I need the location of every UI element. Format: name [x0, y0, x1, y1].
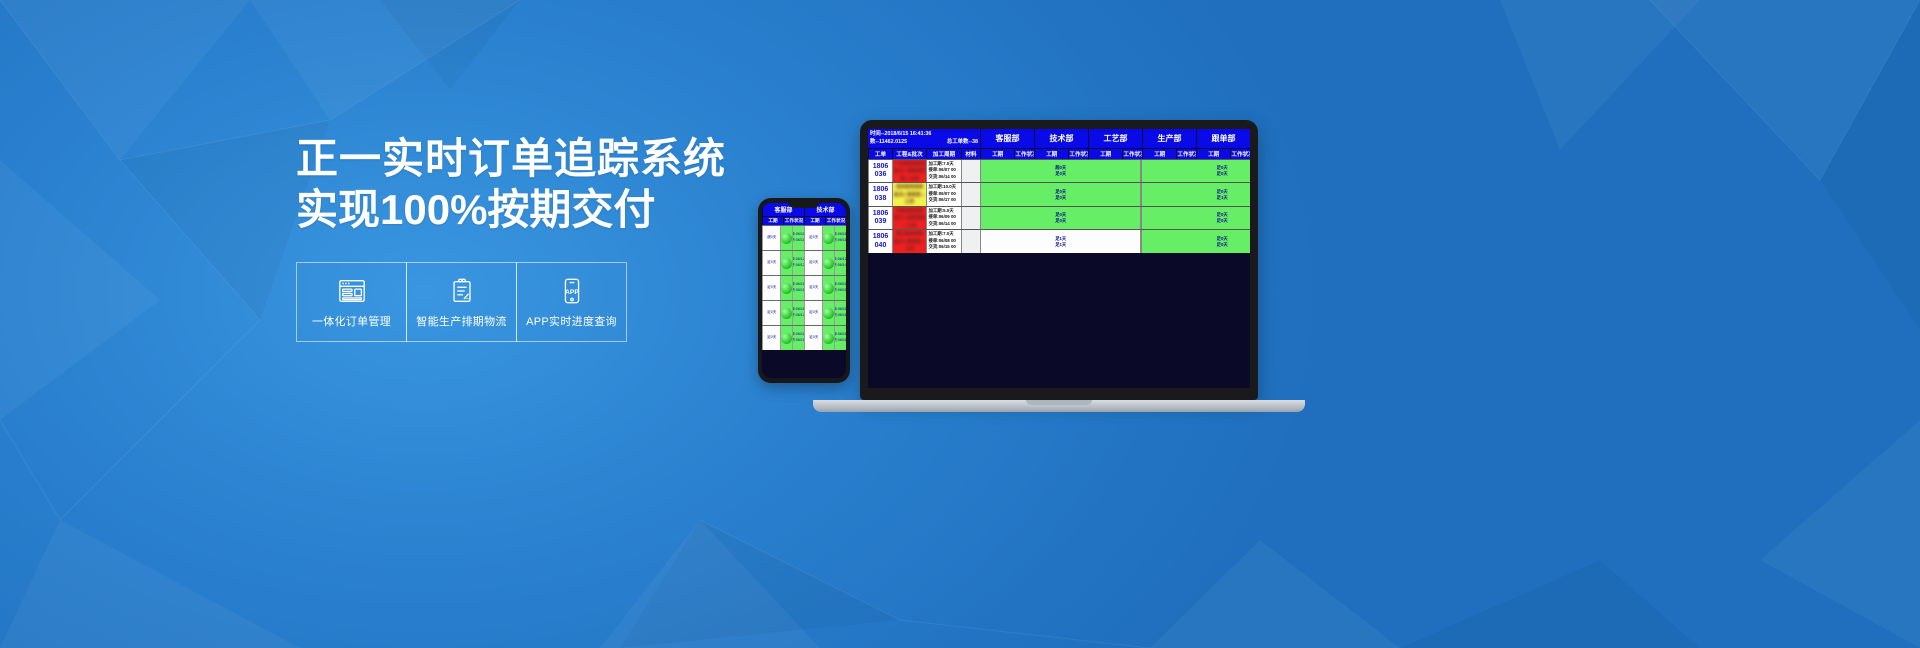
phone-table-row[interactable]: 足0天接单:06/11 17交货:06/11 17足0天接单:06/11 17交… — [762, 325, 846, 350]
phone-col-duration-1: 工期 — [762, 217, 783, 225]
status-indicator-green — [781, 258, 792, 269]
phone-detail-right: 接单:06/12 20交货:06/14 04 — [834, 251, 846, 275]
status-indicator-green — [823, 333, 834, 344]
dashboard-window-icon — [337, 276, 367, 306]
col-生产部-工期: 工期 — [1142, 149, 1176, 159]
phone-detail-right: 接单:06/11 17交货:06/11 17 — [834, 326, 846, 350]
dept-process[interactable]: 工艺部 — [1088, 129, 1142, 148]
processing-cycle: 加工期:10.0天接单:06/07 00交货:06/17 00 — [926, 183, 961, 206]
material-cell — [961, 160, 980, 183]
duration-技术部: 足0天足0天 — [1141, 160, 1250, 183]
col-客服部-工作状况: 工作状况 — [1014, 149, 1034, 159]
phone-column-header: 工期 工作状况 工期 工作状况 — [762, 216, 846, 225]
status-indicator-green — [823, 283, 834, 294]
feature-item-production-scheduling[interactable]: 智能生产排期物流 — [406, 262, 517, 342]
order-number: 1806036 — [868, 160, 892, 183]
phone-table-row[interactable]: 足0天接单:06/11 17交货:06/11 17足0天接单:06/11 17交… — [762, 275, 846, 300]
status-indicator-green — [781, 283, 792, 294]
mobile-app-icon: APP — [557, 276, 587, 306]
duration-技术部: 足0天足0天 — [1141, 207, 1250, 230]
page-title-line2: 实现100%按期交付 — [296, 184, 716, 235]
phone-status-left[interactable] — [780, 276, 792, 300]
department-header-row: 客服部 技术部 工艺部 生产部 跟单部 — [980, 129, 1250, 148]
dept-merchandising[interactable]: 跟单部 — [1196, 129, 1250, 148]
phone-status-right[interactable] — [822, 326, 834, 350]
dashboard-count: 数--11462.0125 — [870, 138, 907, 146]
phone-body: 客服部 技术部 工期 工作状况 工期 工作状况 超0天接单:06/11 17交货… — [758, 198, 850, 383]
table-row[interactable]: 1806039东莞某某某某 批次1 某某某某—工序加工期:5.0天接单:06/0… — [868, 206, 1250, 230]
status-indicator-green — [823, 308, 834, 319]
svg-text:APP: APP — [565, 288, 579, 295]
col-1: 工程&批次 — [892, 149, 926, 159]
phone-status-left[interactable] — [780, 301, 792, 325]
processing-cycle: 加工期:7.0天接单:06/08 00交货:06/15 00 — [926, 230, 961, 253]
feature-item-app-progress-query[interactable]: APP APP实时进度查询 — [516, 262, 627, 342]
phone-status-left[interactable] — [780, 251, 792, 275]
dashboard-total-orders: 总工单数--38 — [947, 138, 978, 146]
order-name: 广州某某某某某 批次1 某某某某某—工序 — [892, 160, 926, 183]
phone-status-right[interactable] — [822, 226, 834, 250]
phone-duration-right: 足0天 — [804, 251, 822, 275]
laptop-base-notch — [1026, 400, 1092, 405]
status-indicator-green — [781, 233, 792, 244]
table-row[interactable]: 1806038深圳某某某某 批次2 某某某—工序加工期:10.0天接单:06/0… — [868, 182, 1250, 206]
phone-detail-left: 接单:06/11 17交货:06/11 17 — [792, 326, 804, 350]
status-indicator-green — [823, 258, 834, 269]
phone-col-status-2: 工作状况 — [825, 217, 846, 225]
phone-detail-left: 接单:06/11 17交货:06/11 17 — [792, 276, 804, 300]
feature-label: 一体化订单管理 — [312, 313, 391, 329]
phone-duration-left: 超0天 — [762, 226, 780, 250]
duration-客服部: 足0天足0天 — [980, 183, 1140, 206]
status-indicator-green — [781, 308, 792, 319]
phone-mockup: 客服部 技术部 工期 工作状况 工期 工作状况 超0天接单:06/11 17交货… — [758, 198, 850, 383]
processing-cycle: 加工期:7.0天接单:06/07 00交货:06/14 00 — [926, 160, 961, 183]
dept-production[interactable]: 生产部 — [1142, 129, 1196, 148]
order-name: 东莞某某某某 批次1 某某某某—工序 — [892, 207, 926, 230]
dashboard-meta: 时间--2018/6/15 16:41:36 数--11462.0125 总工单… — [868, 129, 980, 148]
duration-客服部: 足0天足0天 — [980, 207, 1140, 230]
laptop-base — [813, 400, 1305, 412]
col-工艺部-工作状况: 工作状况 — [1122, 149, 1142, 159]
duration-技术部: 足0天足0天 — [1141, 230, 1250, 253]
phone-detail-right: 接单:06/11 17交货:06/11 17 — [834, 226, 846, 250]
column-header-row: 工单工程&批次加工周期材料工期工作状况工期工作状况工期工作状况工期工作状况工期工… — [868, 148, 1250, 159]
phone-detail-left: 接单:06/11 17交货:06/11 17 — [792, 226, 804, 250]
phone-table-row[interactable]: 超0天接单:06/11 17交货:06/11 17足0天接单:06/11 17交… — [762, 225, 846, 250]
order-name: 佛山某某某某 批次3 某某某—工序 — [892, 230, 926, 253]
laptop-screen[interactable]: 时间--2018/6/15 16:41:36 数--11462.0125 总工单… — [868, 129, 1250, 388]
col-0: 工单 — [868, 149, 892, 159]
clipboard-schedule-icon — [447, 276, 477, 306]
feature-item-order-management[interactable]: 一体化订单管理 — [296, 262, 407, 342]
order-number: 1806040 — [868, 230, 892, 253]
phone-detail-right: 接单:06/11 17交货:06/11 17 — [834, 276, 846, 300]
col-生产部-工作状况: 工作状况 — [1176, 149, 1196, 159]
material-cell — [961, 230, 980, 253]
phone-status-right[interactable] — [822, 276, 834, 300]
table-row[interactable]: 1806036广州某某某某某 批次1 某某某某某—工序加工期:7.0天接单:06… — [868, 159, 1250, 183]
duration-技术部: 足0天足1天 — [1141, 183, 1250, 206]
phone-row-list: 超0天接单:06/11 17交货:06/11 17足0天接单:06/11 17交… — [762, 225, 846, 350]
device-mockups: 客服部 技术部 工期 工作状况 工期 工作状况 超0天接单:06/11 17交货… — [740, 110, 1380, 440]
phone-col-status-1: 工作状况 — [783, 217, 804, 225]
table-row[interactable]: 1806040佛山某某某某 批次3 某某某—工序加工期:7.0天接单:06/08… — [868, 229, 1250, 253]
phone-duration-left: 足0天 — [762, 251, 780, 275]
phone-screen[interactable]: 客服部 技术部 工期 工作状况 工期 工作状况 超0天接单:06/11 17交货… — [762, 203, 846, 378]
phone-detail-left: 接单:06/12 20交货:06/12 20 — [792, 251, 804, 275]
hero-copy: 正一实时订单追踪系统 实现100%按期交付 — [296, 133, 716, 235]
phone-duration-right: 足0天 — [804, 326, 822, 350]
phone-status-left[interactable] — [780, 226, 792, 250]
laptop-mockup: 时间--2018/6/15 16:41:36 数--11462.0125 总工单… — [860, 120, 1305, 412]
phone-detail-right: 接单:06/11 17交货:06/11 17 — [834, 301, 846, 325]
order-name: 深圳某某某某 批次2 某某某—工序 — [892, 183, 926, 206]
material-cell — [961, 183, 980, 206]
duration-客服部: 超0天足0天 — [980, 160, 1140, 183]
col-技术部-工期: 工期 — [1034, 149, 1068, 159]
phone-duration-left: 足0天 — [762, 276, 780, 300]
duration-客服部: 足1天足1天 — [980, 230, 1140, 253]
order-row-list: 1806036广州某某某某某 批次1 某某某某某—工序加工期:7.0天接单:06… — [868, 159, 1250, 253]
dashboard-header: 时间--2018/6/15 16:41:36 数--11462.0125 总工单… — [868, 129, 1250, 148]
col-跟单部-工作状况: 工作状况 — [1230, 149, 1250, 159]
phone-duration-left: 足0天 — [762, 301, 780, 325]
dept-customer-service[interactable]: 客服部 — [980, 129, 1034, 148]
dept-technology[interactable]: 技术部 — [1034, 129, 1088, 148]
status-indicator-green — [781, 333, 792, 344]
col-3: 材料 — [961, 149, 980, 159]
laptop-lid: 时间--2018/6/15 16:41:36 数--11462.0125 总工单… — [860, 120, 1258, 400]
dashboard-time: 时间--2018/6/15 16:41:36 — [870, 130, 978, 138]
phone-status-right[interactable] — [822, 301, 834, 325]
processing-cycle: 加工期:5.0天接单:06/09 00交货:06/14 00 — [926, 207, 961, 230]
feature-label: APP实时进度查询 — [526, 313, 617, 329]
phone-detail-left: 接单:06/11 17交货:06/12 09 — [792, 301, 804, 325]
col-客服部-工期: 工期 — [980, 149, 1014, 159]
feature-list: 一体化订单管理 智能生产排期物流 APP — [296, 262, 627, 342]
order-tracking-dashboard: 时间--2018/6/15 16:41:36 数--11462.0125 总工单… — [868, 129, 1250, 388]
phone-duration-left: 足0天 — [762, 326, 780, 350]
col-跟单部-工期: 工期 — [1196, 149, 1230, 159]
material-cell — [961, 207, 980, 230]
order-number: 1806039 — [868, 207, 892, 230]
phone-table-row[interactable]: 足0天接单:06/12 20交货:06/12 20足0天接单:06/12 20交… — [762, 250, 846, 275]
phone-status-right[interactable] — [822, 251, 834, 275]
order-number: 1806038 — [868, 183, 892, 206]
page-title-line1: 正一实时订单追踪系统 — [296, 133, 716, 184]
phone-table-row[interactable]: 足0天接单:06/11 17交货:06/12 09足0天接单:06/11 17交… — [762, 300, 846, 325]
phone-duration-right: 足0天 — [804, 276, 822, 300]
feature-label: 智能生产排期物流 — [416, 313, 506, 329]
col-技术部-工作状况: 工作状况 — [1068, 149, 1088, 159]
phone-duration-right: 足0天 — [804, 226, 822, 250]
phone-duration-right: 足0天 — [804, 301, 822, 325]
phone-col-duration-2: 工期 — [804, 217, 825, 225]
phone-dashboard: 客服部 技术部 工期 工作状况 工期 工作状况 超0天接单:06/11 17交货… — [762, 203, 846, 378]
col-2: 加工周期 — [926, 149, 961, 159]
phone-status-left[interactable] — [780, 326, 792, 350]
status-indicator-green — [823, 233, 834, 244]
col-工艺部-工期: 工期 — [1088, 149, 1122, 159]
phone-notch — [789, 203, 819, 208]
